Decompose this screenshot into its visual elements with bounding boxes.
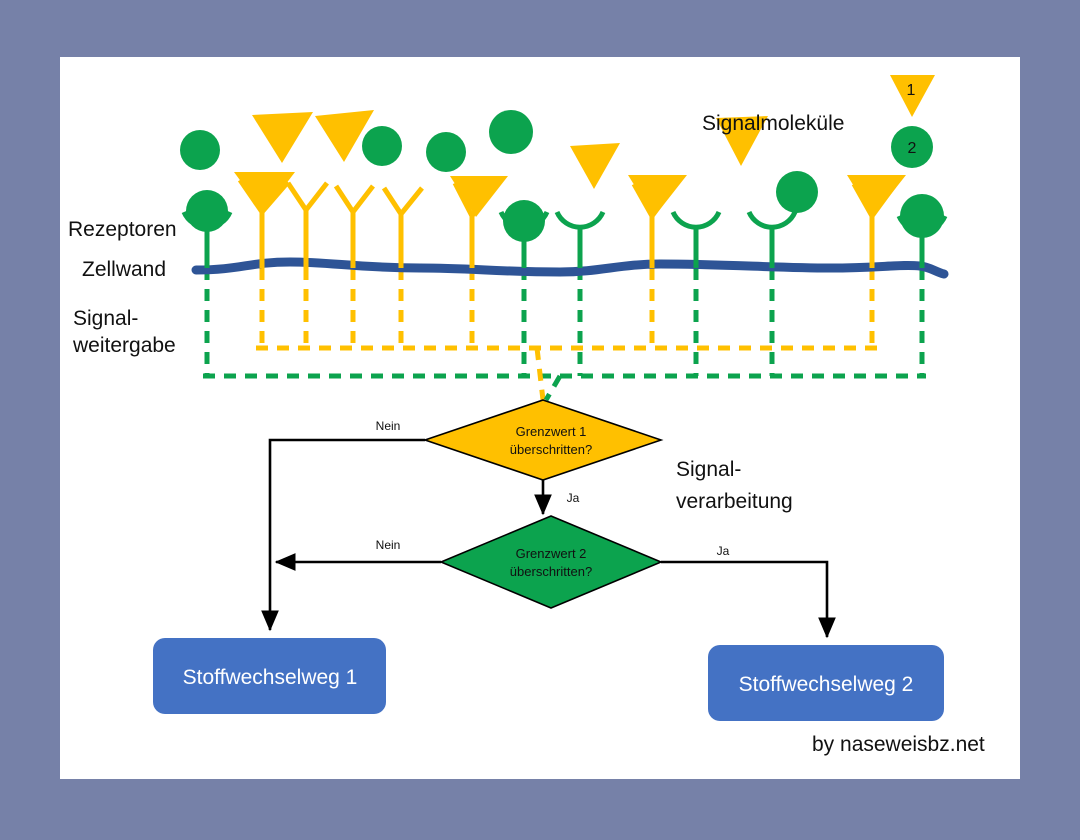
edge-label-nein-2: Nein — [376, 538, 401, 552]
label-signalmolekuele: Signalmoleküle — [702, 112, 844, 137]
label-rezeptoren: Rezeptoren — [68, 218, 177, 243]
signal-molecule-circle — [503, 200, 545, 242]
decision-2-line-2: überschritten? — [510, 564, 592, 579]
green-receptor — [673, 212, 719, 268]
decision-2-line-1: Grenzwert 2 — [516, 546, 587, 561]
decision-grenzwert-1[interactable]: Grenzwert 1 überschritten? — [425, 400, 661, 480]
signal-molecule-circle — [362, 126, 402, 166]
diagram-canvas: 1 2 Grenzwert 1 überschritten? Grenzwert… — [0, 0, 1080, 840]
signal-molecule-circle — [489, 110, 533, 154]
signal-transduction-paths — [203, 268, 926, 400]
edge-label-ja-1: Ja — [567, 491, 580, 505]
signal-molecule-triangle — [847, 175, 906, 217]
outcome-stoffwechselweg-2[interactable]: Stoffwechselweg 2 — [708, 645, 944, 721]
outcome-box-label: Stoffwechselweg 2 — [739, 673, 914, 696]
legend-badge-2: 2 — [891, 126, 933, 168]
yellow-join-stem — [537, 348, 543, 400]
outcome-box-label: Stoffwechselweg 1 — [183, 666, 358, 689]
label-credit: by naseweisbz.net — [812, 733, 985, 758]
edge-label-ja-2: Ja — [717, 544, 730, 558]
green-receptor — [557, 212, 603, 268]
yellow-receptor — [384, 188, 422, 268]
green-join-stem — [546, 376, 560, 400]
green-signal-paths — [203, 268, 926, 376]
outcome-stoffwechselweg-1[interactable]: Stoffwechselweg 1 — [153, 638, 386, 714]
decision-1-line-1: Grenzwert 1 — [516, 424, 587, 439]
bound-molecules-layer — [186, 171, 944, 242]
signal-molecule-circle — [776, 171, 818, 213]
label-signalweitergabe-line1: Signal- — [73, 307, 138, 332]
signal-molecule-triangle — [628, 175, 687, 217]
diagram-svg: 1 2 Grenzwert 1 überschritten? Grenzwert… — [0, 0, 1080, 840]
decision-1-line-2: überschritten? — [510, 442, 592, 457]
yellow-receptor — [288, 183, 327, 268]
signal-molecule-triangle — [570, 143, 620, 189]
signal-molecule-triangle — [234, 172, 295, 213]
signal-molecule-circle — [180, 130, 220, 170]
signal-molecule-triangle — [252, 112, 313, 163]
decision-grenzwert-2[interactable]: Grenzwert 2 überschritten? — [441, 516, 661, 608]
decision-diamond-shape — [441, 516, 661, 608]
signal-molecule-circle — [900, 194, 944, 238]
label-signalverarbeitung-line2: verarbeitung — [676, 490, 793, 515]
green-receptor — [749, 212, 795, 268]
signal-molecule-circle — [186, 190, 228, 232]
receptors-layer — [184, 180, 945, 268]
signal-molecule-triangle — [450, 176, 508, 217]
edge-ja-2 — [661, 562, 827, 637]
signal-molecule-circle — [426, 132, 466, 172]
legend-badge-1: 1 — [890, 75, 935, 117]
edge-nein-1 — [270, 440, 425, 630]
decision-diamond-shape — [425, 400, 661, 480]
legend-label-1: 1 — [907, 82, 916, 99]
edge-label-nein-1: Nein — [376, 419, 401, 433]
yellow-signal-paths — [256, 268, 886, 348]
legend-label-2: 2 — [908, 140, 917, 157]
label-zellwand: Zellwand — [82, 258, 166, 283]
label-signalverarbeitung-line1: Signal- — [676, 458, 741, 483]
label-signalweitergabe-line2: weitergabe — [73, 334, 176, 359]
yellow-receptor — [336, 186, 373, 268]
